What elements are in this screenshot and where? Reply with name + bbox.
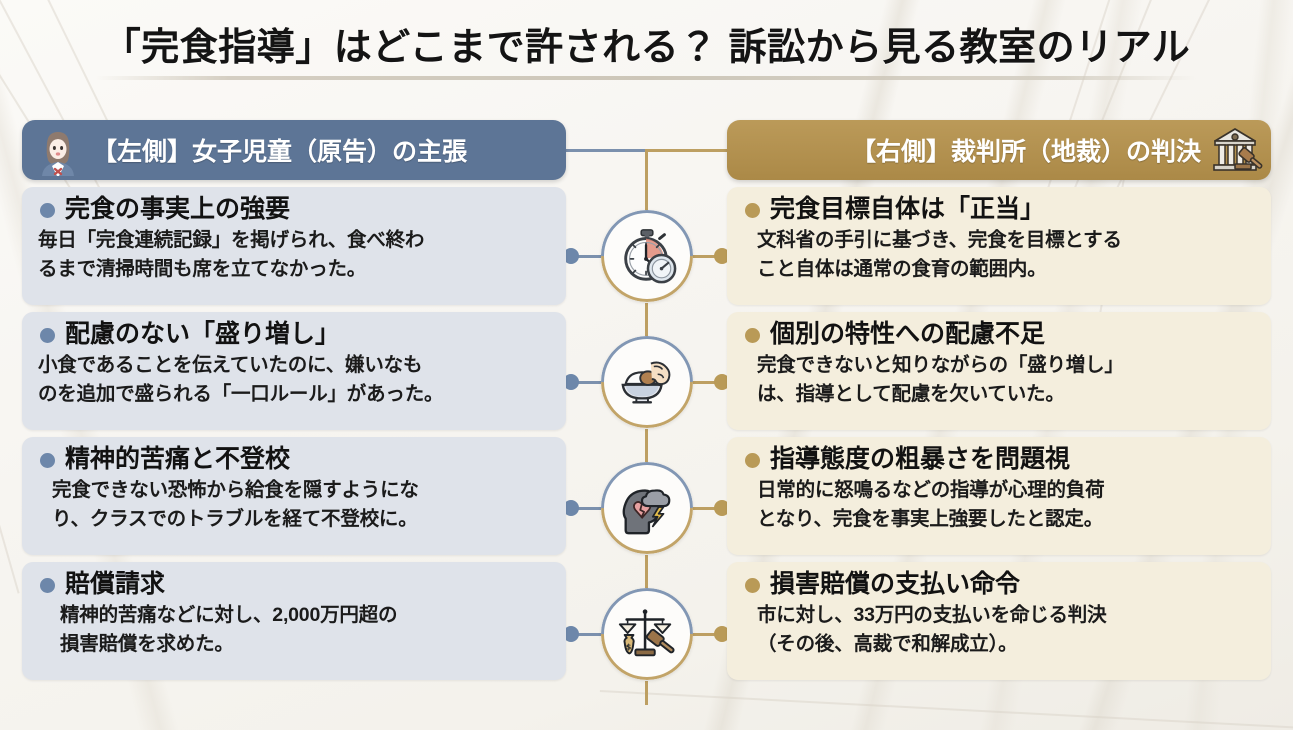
right-card-2-line-2: は、指導として配慮を欠いていた。: [743, 382, 1255, 408]
row-connector-line-right: [690, 255, 727, 258]
left-card-2-title-row: 配慮のない「盛り増し」: [38, 321, 550, 349]
right-card-1[interactable]: 完食目標自体は「正当」 文科省の手引に基づき、完食を目標とする こと自体は通常の…: [727, 187, 1271, 305]
svg-text:$: $: [626, 643, 631, 652]
right-card-1-title: 完食目標自体は「正当」: [770, 196, 1045, 224]
header-connector-line-right: [646, 149, 727, 152]
right-card-3-line-2: となり、完食を事実上強要したと認定。: [743, 507, 1255, 533]
header-connector-line-left: [566, 149, 646, 152]
row-connector-line-right: [690, 507, 727, 510]
center-vertical-line: [645, 555, 648, 593]
schoolgirl-avatar-icon: [32, 124, 84, 176]
infographic-canvas: 「完食指導」はどこまで許される？ 訴訟から見る教室のリアル: [0, 0, 1293, 730]
left-card-4-line-1: 精神的苦痛などに対し、2,000万円超の: [38, 603, 550, 629]
left-card-2-title: 配慮のない「盛り増し」: [65, 321, 340, 349]
left-card-4-title-row: 賠償請求: [38, 571, 550, 599]
right-card-4-title-row: 損害賠償の支払い命令: [743, 571, 1255, 599]
left-card-4-title: 賠償請求: [65, 571, 165, 599]
left-card-2-line-2: のを追加で盛られる「一口ルール」があった。: [38, 382, 550, 408]
right-card-1-line-2: こと自体は通常の食育の範囲内。: [743, 257, 1255, 283]
right-card-2-line-1: 完食できないと知りながらの「盛り増し」: [743, 353, 1255, 379]
center-vertical-line: [645, 303, 648, 341]
bullet-icon: [40, 578, 55, 593]
left-card-2-line-1: 小食であることを伝えていたのに、嫌いなも: [38, 353, 550, 379]
center-vertical-line: [645, 429, 648, 467]
background-streak: [0, 420, 20, 594]
right-header-label: 【右側】裁判所（地裁）の判決: [851, 132, 1201, 168]
left-column-header[interactable]: 【左側】女子児童（原告）の主張: [22, 120, 566, 180]
center-node-distress: [601, 462, 693, 554]
row-connector-line-left: [566, 633, 602, 636]
left-card-2[interactable]: 配慮のない「盛り増し」 小食であることを伝えていたのに、嫌いなも のを追加で盛ら…: [22, 312, 566, 430]
left-card-3[interactable]: 精神的苦痛と不登校 完食できない恐怖から給食を隠すようにな り、クラスでのトラブ…: [22, 437, 566, 555]
bullet-icon: [40, 328, 55, 343]
title-underline-decoration: [96, 76, 1196, 80]
title-bar: 「完食指導」はどこまで許される？ 訴訟から見る教室のリアル: [0, 16, 1293, 71]
right-card-4[interactable]: 損害賠償の支払い命令 市に対し、33万円の支払いを命じる判決 （その後、高裁で和…: [727, 562, 1271, 680]
center-node-judgment: $: [601, 588, 693, 680]
right-card-1-line-1: 文科省の手引に基づき、完食を目標とする: [743, 228, 1255, 254]
left-card-4-line-2: 損害賠償を求めた。: [38, 632, 550, 658]
right-card-2[interactable]: 個別の特性への配慮不足 完食できないと知りながらの「盛り増し」 は、指導として配…: [727, 312, 1271, 430]
right-column-header[interactable]: 【右側】裁判所（地裁）の判決: [727, 120, 1271, 180]
right-card-4-line-1: 市に対し、33万円の支払いを命じる判決: [743, 603, 1255, 629]
left-card-3-line-1: 完食できない恐怖から給食を隠すようにな: [38, 478, 550, 504]
bullet-icon: [745, 453, 760, 468]
right-card-2-title: 個別の特性への配慮不足: [770, 321, 1045, 349]
row-connector-line-right: [690, 381, 727, 384]
row-connector-line-left: [566, 255, 602, 258]
right-card-3-title-row: 指導態度の粗暴さを問題視: [743, 446, 1255, 474]
bullet-icon: [745, 203, 760, 218]
left-card-1-line-2: るまで清掃時間も席を立てなかった。: [38, 257, 550, 283]
left-card-1-line-1: 毎日「完食連続記録」を掲げられ、食べ終わ: [38, 228, 550, 254]
left-header-label: 【左側】女子児童（原告）の主張: [92, 132, 467, 168]
left-card-4[interactable]: 賠償請求 精神的苦痛などに対し、2,000万円超の 損害賠償を求めた。: [22, 562, 566, 680]
left-card-1-title-row: 完食の事実上の強要: [38, 196, 550, 224]
right-card-1-title-row: 完食目標自体は「正当」: [743, 196, 1255, 224]
center-node-rice-bowl: [601, 336, 693, 428]
row-connector-line-left: [566, 507, 602, 510]
bullet-icon: [745, 578, 760, 593]
background-streak: [600, 690, 1293, 729]
bullet-icon: [40, 203, 55, 218]
right-card-3-line-1: 日常的に怒鳴るなどの指導が心理的負荷: [743, 478, 1255, 504]
courthouse-gavel-icon: [1211, 124, 1263, 176]
center-node-stopwatch: [601, 210, 693, 302]
row-connector-line-left: [566, 381, 602, 384]
bullet-icon: [40, 453, 55, 468]
hand-rice-bowl-icon: [616, 351, 678, 413]
right-column-court: 【右側】裁判所（地裁）の判決: [727, 120, 1271, 680]
right-card-2-title-row: 個別の特性への配慮不足: [743, 321, 1255, 349]
left-card-3-line-2: り、クラスでのトラブルを経て不登校に。: [38, 507, 550, 533]
head-broken-heart-storm-icon: [616, 477, 678, 539]
right-card-4-line-2: （その後、高裁で和解成立）。: [743, 632, 1255, 658]
stopwatch-gauge-icon: [616, 225, 678, 287]
row-connector-line-right: [690, 633, 727, 636]
left-card-1-title: 完食の事実上の強要: [65, 196, 290, 224]
right-card-3[interactable]: 指導態度の粗暴さを問題視 日常的に怒鳴るなどの指導が心理的負荷 となり、完食を事…: [727, 437, 1271, 555]
left-card-3-title: 精神的苦痛と不登校: [65, 446, 290, 474]
right-card-3-title: 指導態度の粗暴さを問題視: [770, 446, 1070, 474]
scales-gavel-money-icon: $: [616, 603, 678, 665]
center-vertical-line: [645, 149, 648, 215]
bullet-icon: [745, 328, 760, 343]
page-title: 「完食指導」はどこまで許される？ 訴訟から見る教室のリアル: [0, 16, 1293, 71]
left-card-1[interactable]: 完食の事実上の強要 毎日「完食連続記録」を掲げられ、食べ終わ るまで清掃時間も席…: [22, 187, 566, 305]
left-column-plaintiff: 【左側】女子児童（原告）の主張 完食の事実上の強要 毎日「完食連続記録」を掲げら…: [22, 120, 566, 680]
left-card-3-title-row: 精神的苦痛と不登校: [38, 446, 550, 474]
center-vertical-line: [645, 681, 648, 705]
right-card-4-title: 損害賠償の支払い命令: [770, 571, 1020, 599]
